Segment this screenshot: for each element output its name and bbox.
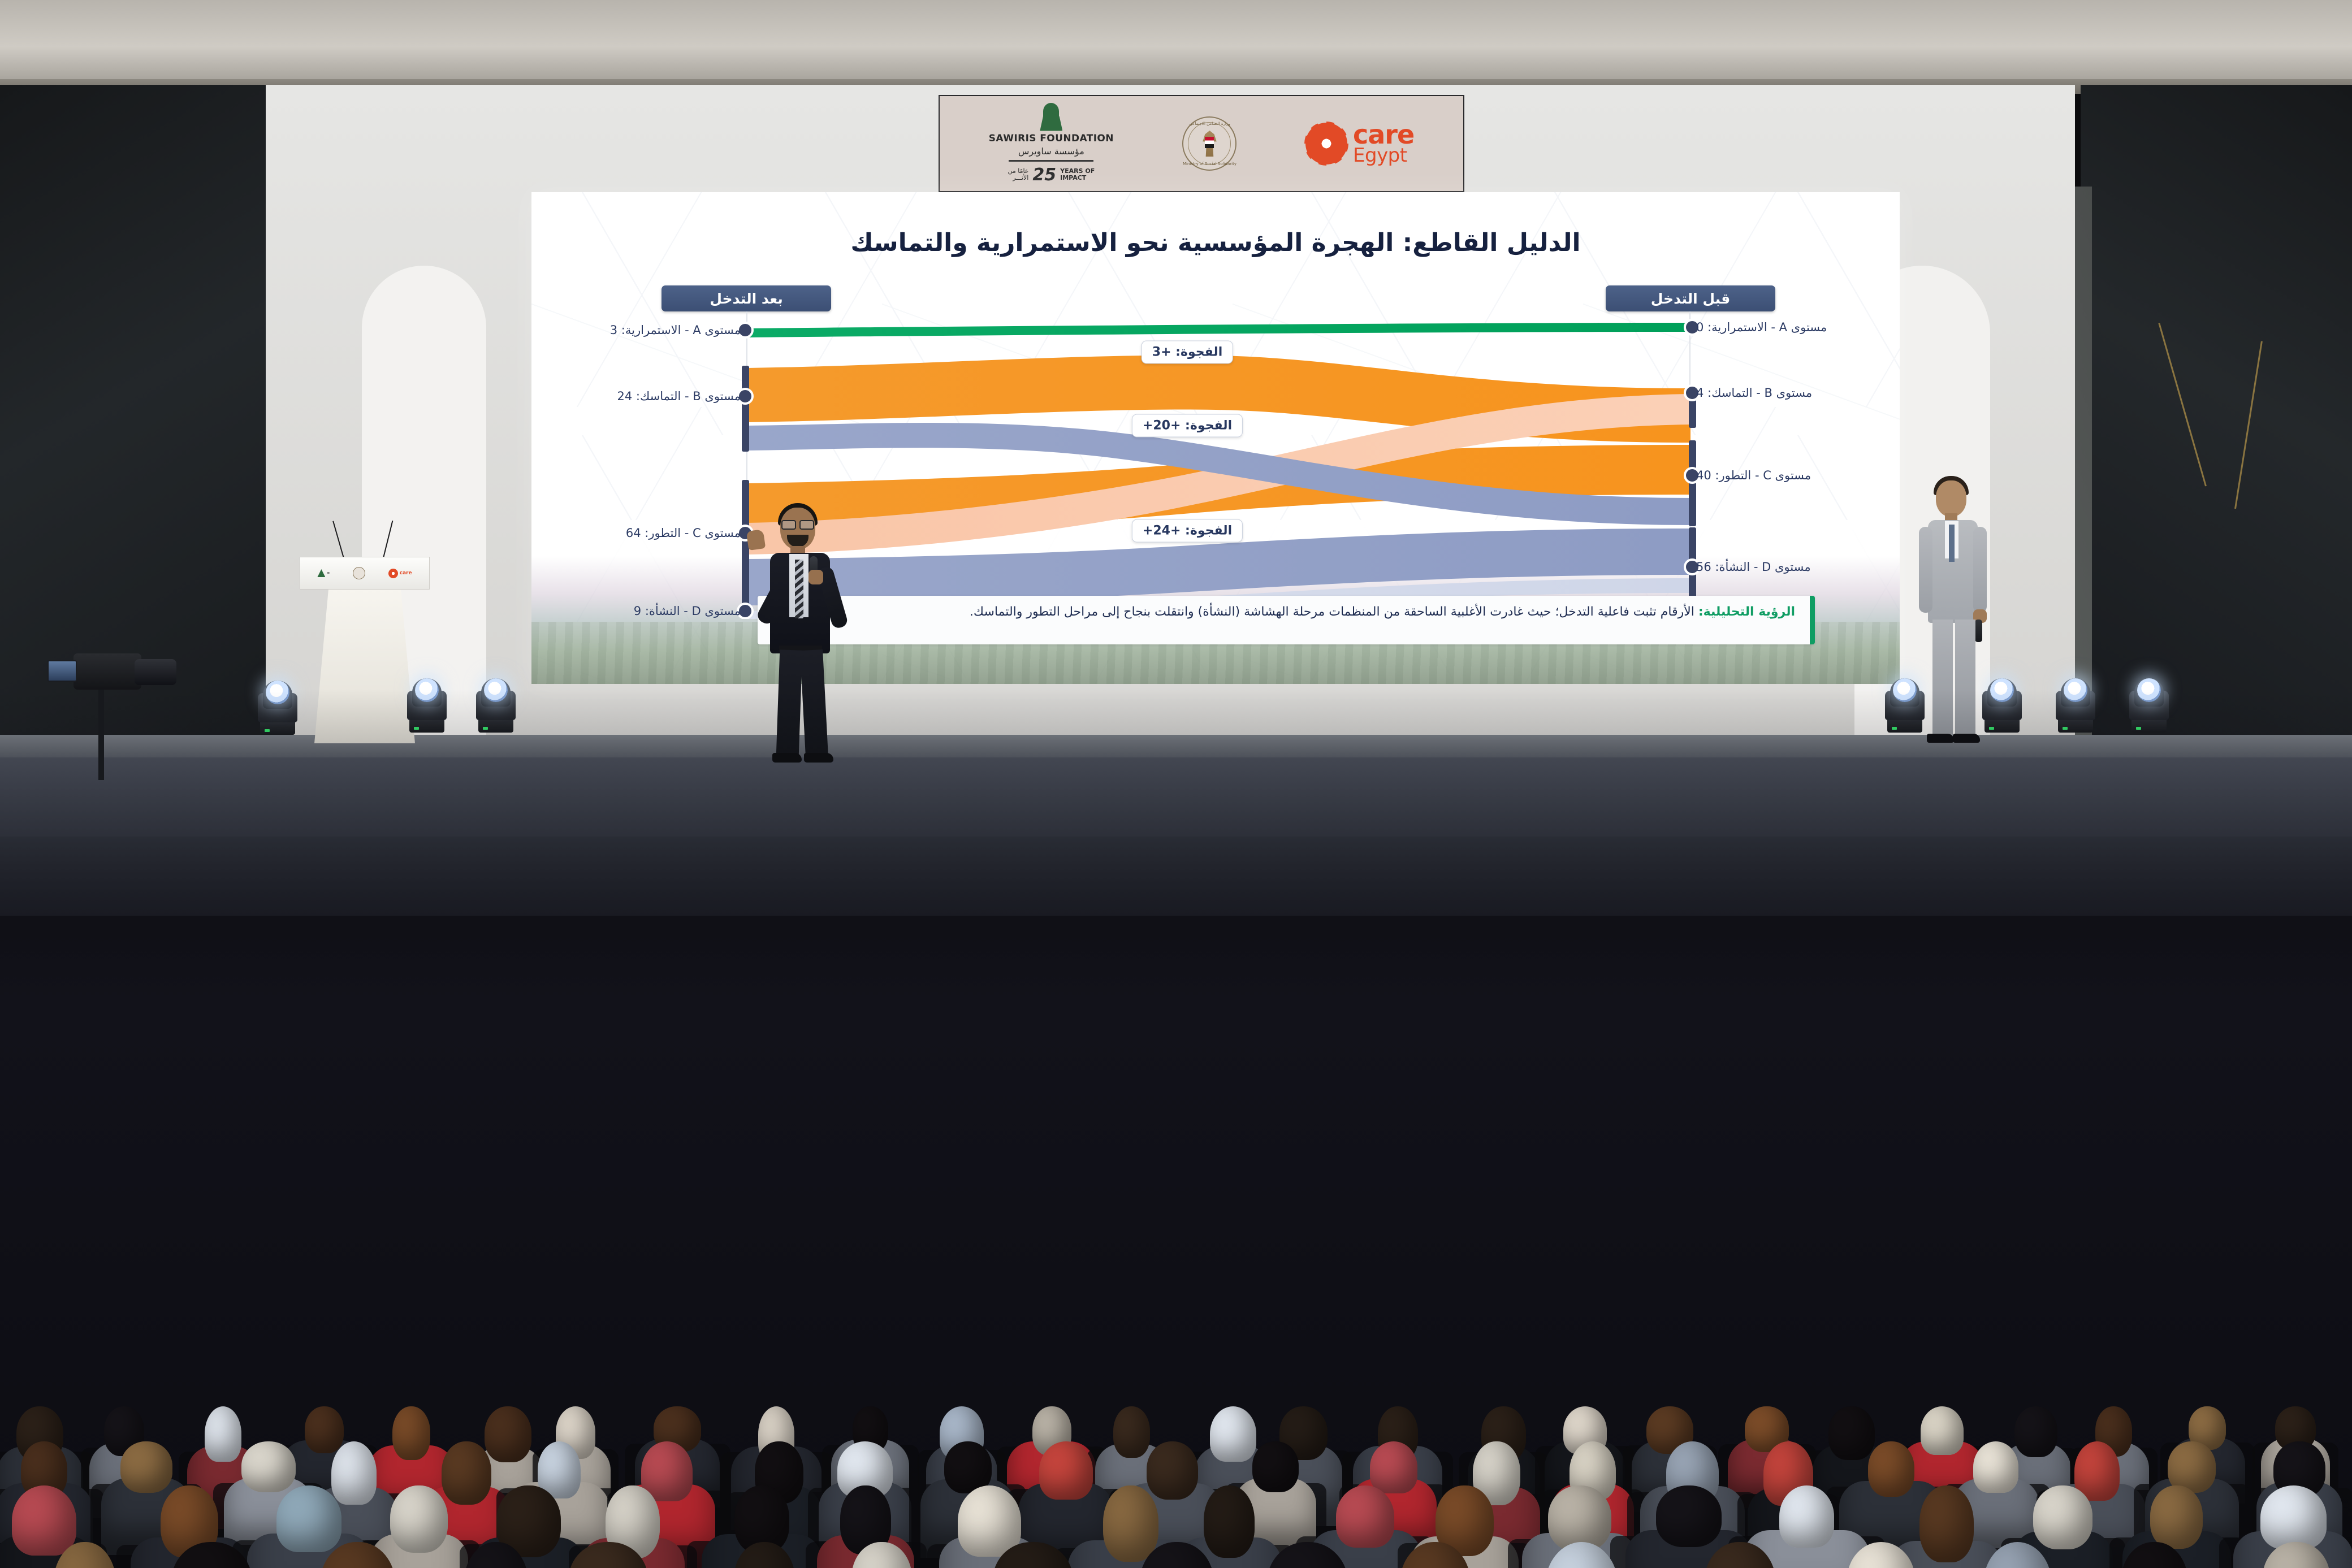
presenter-raised-hand (746, 529, 766, 551)
impact-number: 25 (1032, 165, 1056, 185)
node-label-B-before: مستوى B - التماسك: 4 (1696, 386, 1812, 400)
audience-member-head (2150, 1485, 2203, 1549)
camera-monitor-screen (47, 660, 77, 682)
podium-logo-care: care (388, 569, 412, 578)
node-label-B-after: مستوى B - التماسك: 24 (617, 389, 741, 403)
audience-member-head (1973, 1441, 2018, 1493)
presenter-striped-tie (795, 560, 803, 618)
audience-member-head (1103, 1485, 1158, 1562)
analytical-insight-callout: الرؤية التحليلية: الأرقام تثبت فاعلية ال… (758, 596, 1815, 644)
second-presenter-tie (1949, 525, 1955, 562)
audience-member-head (1868, 1441, 1914, 1497)
audience-member-head (2260, 1485, 2327, 1549)
node-label-A-before: مستوى A - الاستمرارية: 0 (1696, 320, 1827, 334)
audience-member-head (276, 1485, 341, 1552)
egypt-word: Egypt (1353, 147, 1414, 164)
gap-chip-B: الفجوة: +20+ (1132, 414, 1243, 438)
sponsor-logo-banner: SAWIRIS FOUNDATION مؤسسة ساويرس عامًا من… (939, 95, 1464, 192)
node-bar-B-after (742, 366, 749, 452)
conference-stage-scene: SAWIRIS FOUNDATION مؤسسة ساويرس عامًا من… (0, 0, 2352, 1568)
audience-member-head (1921, 1406, 1964, 1455)
audience-member-head (241, 1441, 296, 1492)
audience-member-head (205, 1406, 241, 1462)
audience-member-head (331, 1441, 377, 1505)
presenter-glasses-icon (781, 520, 814, 527)
presenter-mic-hand (808, 570, 823, 584)
slide-title: الدليل القاطع: الهجرة المؤسسية نحو الاست… (531, 228, 1900, 257)
podium-logo-ministry (353, 567, 365, 579)
egypt-flag-icon (1205, 137, 1214, 148)
audience-member-head (12, 1485, 76, 1556)
podium-care-label: care (400, 571, 412, 575)
sawiris-divider (1009, 160, 1093, 162)
audience-shadow-gradient (0, 690, 2352, 1568)
ministry-name-en: Ministry of Social Solidarity (1183, 162, 1236, 166)
impact-en-text: YEARS OF IMPACT (1060, 168, 1095, 181)
gap-chip-A: الفجوة: +3 (1142, 341, 1233, 364)
sawiris-name-en: SAWIRIS FOUNDATION (989, 133, 1114, 144)
second-presenter-arm-left (1919, 527, 1932, 613)
audience-member-head (1370, 1441, 1417, 1493)
podium-logo-strip: ▬ care (300, 557, 430, 590)
audience-member-head (305, 1406, 344, 1453)
node-label-D-before: مستوى D - النشأة: 56 (1696, 560, 1811, 574)
audience-member-head (1548, 1485, 1611, 1551)
audience-member-head (1779, 1485, 1834, 1548)
projection-screen: الدليل القاطع: الهجرة المؤسسية نحو الاست… (531, 192, 1900, 684)
node-label-C-before: مستوى C - التطور: 40 (1696, 469, 1811, 482)
camera-body (73, 653, 141, 690)
audience-member-head (120, 1441, 172, 1493)
audience-member-head (1204, 1485, 1255, 1558)
node-label-C-after: مستوى C - التطور: 64 (626, 526, 741, 540)
podium-sawiris-icon (317, 569, 325, 577)
audience-member-head (1210, 1406, 1256, 1462)
node-label-D-after: مستوى D - النشأة: 9 (634, 604, 741, 618)
care-wordmark: care Egypt (1353, 123, 1414, 164)
podium-logo-sawiris: ▬ (317, 566, 330, 581)
audience-member-head (1252, 1441, 1299, 1492)
audience-member-head (2014, 1406, 2057, 1457)
audience-member-head (485, 1406, 531, 1462)
audience-member-head (392, 1406, 430, 1460)
second-handheld-microphone (1975, 620, 1982, 642)
podium-sawiris-label: ▬ (327, 572, 330, 575)
sawiris-name-ar: مؤسسة ساويرس (1018, 146, 1084, 157)
flow-B-before-to-A-after (747, 323, 1690, 337)
second-presenter-head (1936, 480, 1966, 517)
second-presenter-arm-right (1973, 527, 1987, 613)
audience-member-head (1113, 1406, 1150, 1458)
insight-lead: الرؤية التحليلية: (1698, 605, 1795, 619)
seated-audience (0, 690, 2352, 1568)
logo-sawiris-foundation: SAWIRIS FOUNDATION مؤسسة ساويرس عامًا من… (989, 103, 1114, 185)
podium-care-burst-icon (388, 569, 398, 578)
audience-member-head (1039, 1441, 1093, 1500)
audience-member-head (1147, 1441, 1198, 1500)
insight-body: الأرقام تثبت فاعلية التدخل؛ حيث غادرت ال… (970, 605, 1698, 619)
audience-member-head (958, 1485, 1021, 1557)
audience-member-head (2033, 1485, 2092, 1549)
impact-ar-line2: الأثـــر (1008, 175, 1028, 181)
impact-ar-text: عامًا من الأثـــر (1008, 168, 1028, 181)
node-label-A-after: مستوى A - الاستمرارية: 3 (610, 323, 741, 337)
column-badge-before: قبل التدخل (1606, 285, 1775, 311)
audience-member-head (1828, 1406, 1875, 1460)
column-badge-after: بعد التدخل (661, 285, 831, 311)
ministry-name-ar: وزارة التضامن الاجتماعي (1189, 122, 1230, 126)
presentation-slide: الدليل القاطع: الهجرة المؤسسية نحو الاست… (531, 192, 1900, 684)
audience-member-head (390, 1485, 448, 1553)
logo-care-egypt: care Egypt (1305, 123, 1414, 164)
logo-ministry-social-solidarity: وزارة التضامن الاجتماعي Ministry of Soci… (1182, 116, 1236, 171)
sawiris-wheat-icon (1036, 103, 1066, 131)
gap-chip-C: الفجوة: +24+ (1132, 519, 1243, 543)
audience-member-head (1919, 1485, 1974, 1562)
audience-member-head (442, 1441, 491, 1505)
audience-member-head (1656, 1485, 1722, 1547)
care-burst-icon (1305, 123, 1347, 164)
camera-tripod (98, 687, 104, 780)
sawiris-impact-row: عامًا من الأثـــر 25 YEARS OF IMPACT (1008, 165, 1095, 185)
audience-member-head (1336, 1485, 1394, 1548)
video-camera-rig (40, 633, 187, 780)
impact-en-line2: IMPACT (1060, 175, 1095, 181)
care-word: care (1353, 123, 1414, 146)
ceiling (0, 0, 2352, 85)
camera-lens-icon (135, 659, 176, 685)
